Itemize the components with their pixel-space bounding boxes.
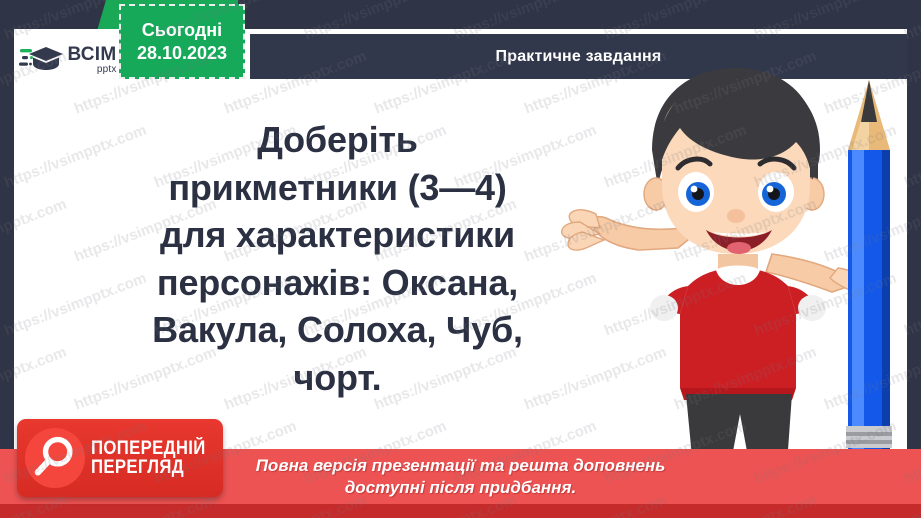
- slide-canvas: ВСІМ pptx Сьогодні 28.10.2023 Практичне …: [0, 0, 921, 518]
- logo-subtitle: pptx: [67, 65, 116, 75]
- cartoon-boy-illustration: [560, 58, 921, 450]
- purchase-notice-line2: доступні після придбання.: [345, 477, 576, 499]
- task-line: Вакула, Солоха, Чуб,: [110, 306, 565, 354]
- task-text: Доберіть прикметники (3—4) для характери…: [110, 116, 565, 401]
- today-date: 28.10.2023: [137, 43, 227, 64]
- brand-logo[interactable]: ВСІМ pptx: [14, 29, 121, 91]
- magnifier-icon: [25, 428, 85, 488]
- today-date-badge: Сьогодні 28.10.2023: [119, 4, 245, 79]
- preview-badge-line2: ПЕРЕГЛЯД: [91, 458, 206, 477]
- task-line: Доберіть: [110, 116, 565, 164]
- bottom-red-strip: [0, 504, 921, 518]
- purchase-notice-line1: Повна версія презентації та решта доповн…: [256, 455, 666, 477]
- task-line: для характеристики: [110, 211, 565, 259]
- today-label: Сьогодні: [142, 20, 222, 41]
- task-line: персонажів: Оксана,: [110, 259, 565, 307]
- logo-title: ВСІМ: [67, 45, 116, 64]
- pencil: [846, 80, 892, 450]
- task-line: прикметники (3—4): [110, 164, 565, 212]
- preview-badge[interactable]: ПОПЕРЕДНІЙ ПЕРЕГЛЯД: [17, 419, 223, 497]
- preview-badge-line1: ПОПЕРЕДНІЙ: [91, 439, 206, 458]
- task-line: чорт.: [110, 354, 565, 402]
- graduation-cap-icon: [18, 43, 64, 77]
